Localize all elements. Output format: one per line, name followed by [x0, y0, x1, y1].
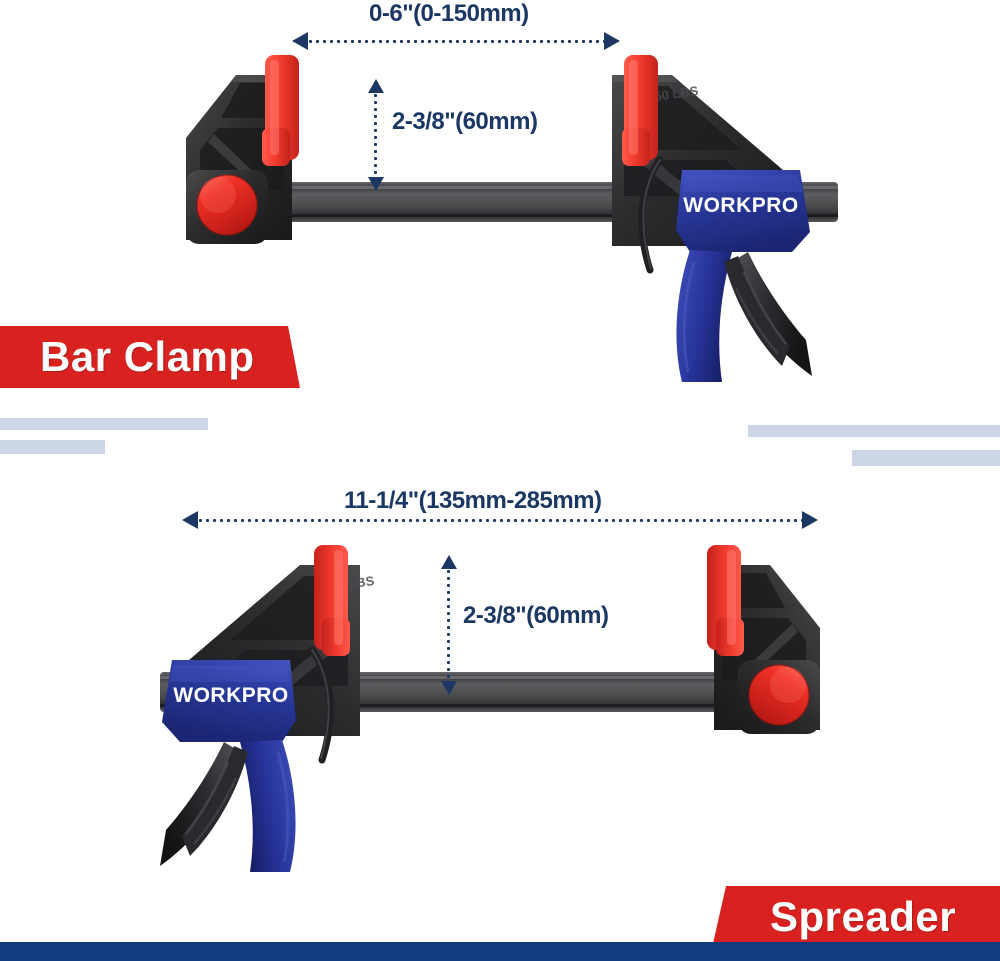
bottom-horizontal-dimension-line	[190, 519, 810, 522]
clamp-red-lever-bottom-outer	[707, 545, 744, 656]
clamp-red-lever-left	[262, 55, 299, 166]
clamp-body-blue-bottom: WORKPRO	[162, 660, 296, 742]
bottom-vertical-dimension-label: 2-3/8"(60mm)	[463, 602, 608, 630]
deco-bar-bottom-navy	[0, 942, 1000, 961]
bottom-horizontal-arrow-left	[182, 511, 198, 529]
top-horizontal-dimension-label: 0-6"(0-150mm)	[369, 0, 529, 28]
top-vertical-dimension-label: 2-3/8"(60mm)	[392, 108, 537, 136]
clamp-handle-grips-bottom	[160, 740, 296, 872]
bottom-vertical-arrow-up	[441, 555, 457, 569]
banner-spreader: Spreader	[712, 886, 1000, 948]
deco-bar-right-lower	[852, 450, 1000, 466]
clamp-red-lever-right	[622, 55, 658, 166]
top-horizontal-arrow-right	[604, 32, 620, 50]
top-vertical-arrow-up	[368, 79, 384, 93]
clamp-red-lever-bottom-inner	[314, 545, 350, 656]
top-vertical-dimension-line	[374, 92, 377, 178]
product-infographic: 150 LBS WORKPRO	[0, 0, 1000, 961]
brand-logo-top: WORKPRO	[683, 194, 799, 217]
deco-bar-right-upper	[748, 425, 1000, 437]
bottom-vertical-arrow-down	[441, 681, 457, 695]
bottom-horizontal-arrow-right	[802, 511, 818, 529]
top-horizontal-dimension-line	[300, 40, 612, 43]
deco-bar-left-lower	[0, 440, 105, 454]
brand-logo-bottom: WORKPRO	[173, 684, 289, 707]
banner-bar-clamp: Bar Clamp	[0, 326, 300, 388]
top-horizontal-arrow-left	[292, 32, 308, 50]
banner-bar-clamp-label: Bar Clamp	[40, 333, 255, 381]
banner-spreader-label: Spreader	[770, 893, 956, 941]
top-vertical-arrow-down	[368, 177, 384, 191]
spreader-illustration: 150 LBS WORKPRO	[0, 490, 1000, 890]
bottom-vertical-dimension-line	[447, 568, 450, 682]
clamp-handle-grips	[676, 250, 812, 382]
bottom-horizontal-dimension-label: 11-1/4"(135mm-285mm)	[344, 487, 602, 515]
deco-bar-left-upper	[0, 418, 208, 430]
clamp-body-blue: WORKPRO	[676, 170, 810, 252]
